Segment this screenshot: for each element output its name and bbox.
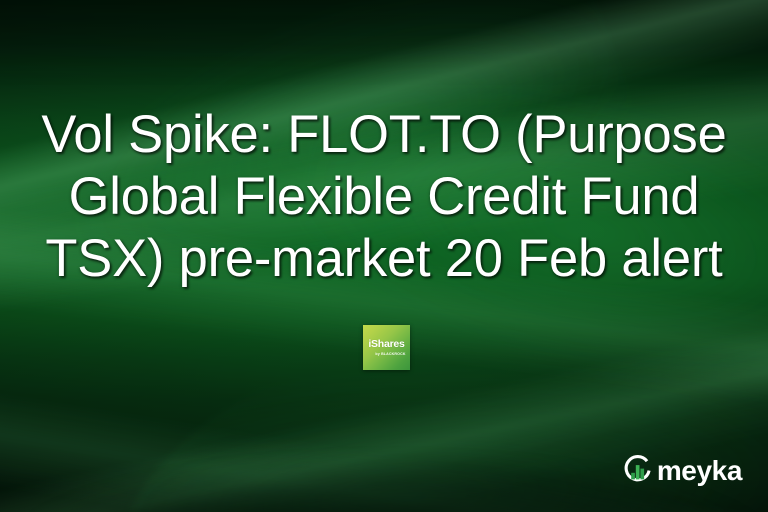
social-alert-card: Vol Spike: FLOT.TO (Purpose Global Flexi… [0,0,768,512]
page-title: Vol Spike: FLOT.TO (Purpose Global Flexi… [0,104,768,290]
ishares-logo-subtitle: by BLACKROCK [375,351,405,357]
ishares-logo-icon: iShares by BLACKROCK [363,325,410,370]
meyka-ring-bars-icon [621,454,654,487]
fund-logo: iShares by BLACKROCK [363,325,410,370]
ishares-logo-wordmark: iShares [368,339,404,350]
brand-lockup[interactable]: meyka [621,454,742,487]
brand-name: meyka [657,457,742,485]
